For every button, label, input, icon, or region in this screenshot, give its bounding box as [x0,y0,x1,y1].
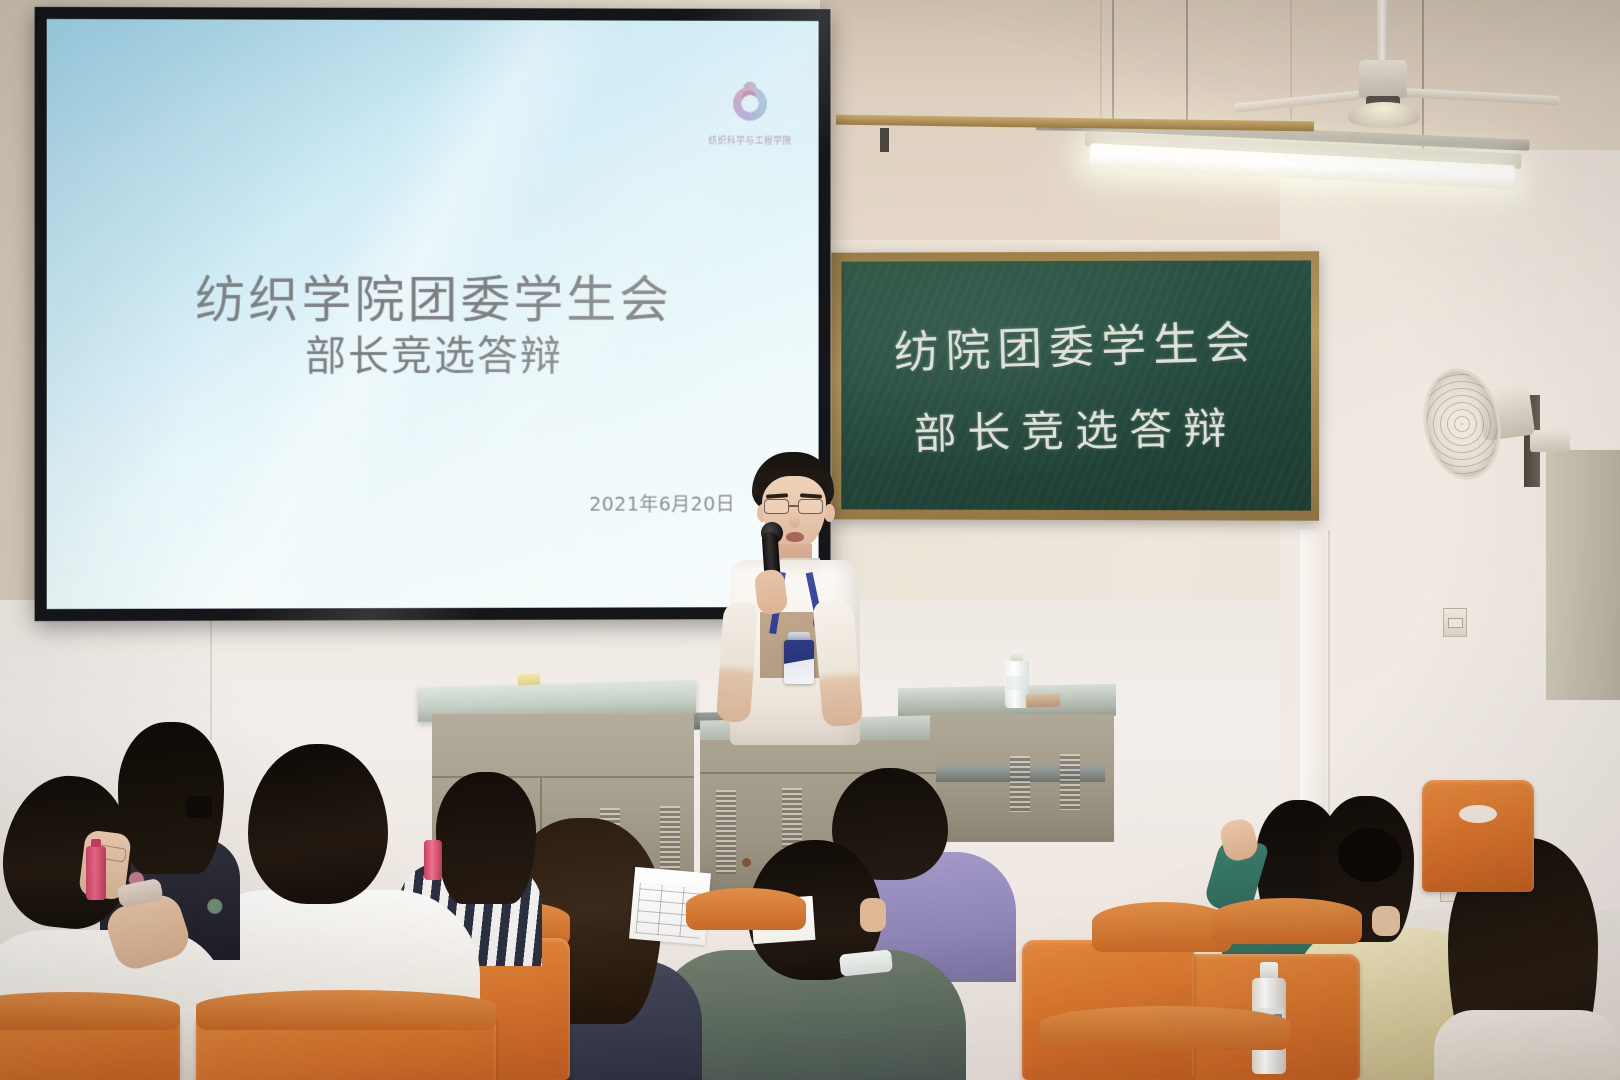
slide-subtitle: 部长竞选答辩 [47,332,819,381]
blackboard: 纺院团委学生会 部长竞选答辩 [831,251,1319,520]
wall-seam [210,620,212,740]
presenter-mouth [786,532,804,542]
chair-handle-slot [1459,805,1497,823]
blackboard-text-line-1: 纺院团委学生会 [841,304,1311,383]
glasses-icon [762,499,826,515]
light-hanger-wire [1112,0,1114,128]
blackboard-text-line-2: 部长竞选答辩 [841,393,1311,464]
ceiling-fan-motor [1359,60,1407,98]
blackboard-surface: 纺院团委学生会 部长竞选答辩 [841,260,1311,510]
audience-ear [860,898,886,932]
cardboard-item [1026,693,1060,707]
slide-date: 2021年6月20日 [47,490,735,518]
name-badge [784,640,814,684]
blackboard-rail-bracket [880,128,889,152]
sticky-note [518,673,541,685]
wall-cabinet [1546,450,1620,700]
glasses-bridge [789,505,798,507]
audience-hair-clip [186,796,212,818]
ceiling-fan-pole [1377,0,1388,66]
college-logo: 纺织科学与工程学院 [695,81,804,147]
textile-college-emblem-icon [727,81,773,127]
audience-hair [436,772,536,904]
chair-seat[interactable] [1212,898,1362,944]
chair-seat[interactable] [0,992,180,1030]
desk-knob [742,858,751,867]
glasses-lens [764,499,789,514]
chair-seat[interactable] [1092,902,1232,952]
audience-neck [1372,906,1400,936]
audience-body [1434,1010,1620,1080]
pink-water-bottle [86,846,106,900]
wall-pillar [1300,530,1326,840]
slide-surface: 纺织科学与工程学院 纺织学院团委学生会 部长竞选答辩 2021年6月20日 [47,19,819,609]
chair-seat[interactable] [686,888,806,930]
chair-seat[interactable] [1040,1006,1290,1050]
light-hanger-wire [1422,0,1424,150]
audience-hair-bun [1338,828,1402,882]
presenter: UN [714,452,874,742]
glasses-lens [798,499,823,514]
pink-water-bottle [424,840,442,880]
desk-vent [1010,756,1030,812]
classroom-photo: 纺院团委学生会 部长竞选答辩 纺织科学与工程学院 纺织学院团委学生会 部长竞选答… [0,0,1620,1080]
wall-seam [1100,0,1102,130]
audience-head [248,744,388,904]
slide-title: 纺织学院团委学生会 [47,272,819,328]
chair-seat[interactable] [196,990,496,1030]
ceiling-fan-icon [1348,102,1420,128]
projection-screen: 纺织科学与工程学院 纺织学院团委学生会 部长竞选答辩 2021年6月20日 [35,7,831,621]
wall-seam [1328,530,1330,850]
wall-fan-arm [1530,430,1570,452]
bottle-label [1006,676,1028,690]
desk-vent [716,790,736,874]
presenter-nose [789,514,800,528]
chair-back[interactable] [1422,780,1534,892]
college-logo-label: 纺织科学与工程学院 [700,132,801,146]
desk-vent [1060,754,1080,810]
light-switch-icon[interactable] [1443,608,1467,637]
slide-heading-block: 纺织学院团委学生会 部长竞选答辩 [47,272,819,382]
